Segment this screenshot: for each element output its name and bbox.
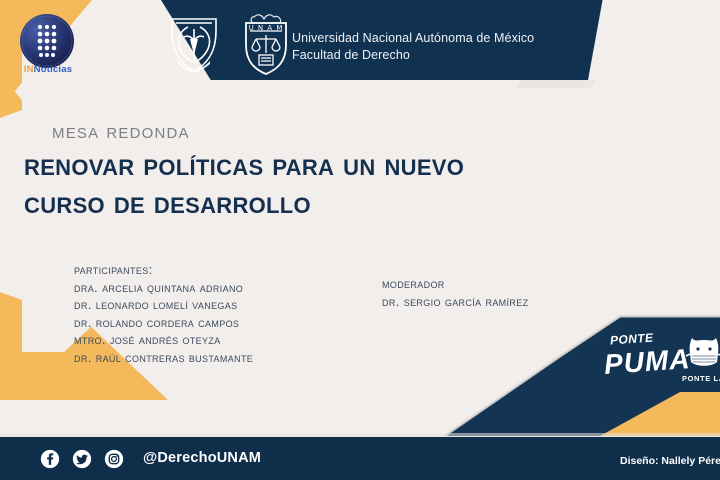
twitter-icon[interactable] — [72, 449, 92, 469]
ponte-puma-sublabel: PONTE LA — [682, 374, 720, 383]
social-handle[interactable]: @DerechoUNAM — [143, 450, 261, 466]
participant-name: Dr. Leonardo Lomelí Vanegas — [74, 296, 253, 314]
design-credit: Diseño: Nallely Pére — [620, 455, 720, 467]
page-title-line-2: curso de desarrollo — [24, 184, 684, 222]
facebook-icon[interactable] — [40, 449, 60, 469]
facultad-derecho-shield-icon: U N A M — [240, 11, 292, 77]
participant-name: Dr. Rolando Cordera Campos — [74, 314, 253, 332]
participants-heading: Participantes: — [74, 261, 253, 279]
instagram-icon[interactable] — [104, 449, 124, 469]
ponte-puma-logo: Ponte PUMA PONTE LA — [604, 328, 720, 390]
institution-shields: U N A M — [162, 8, 292, 80]
in-noticias-logo: INNoticias — [10, 14, 82, 86]
institution-line-2: Facultad de Derecho — [292, 47, 534, 64]
svg-text:U N A M: U N A M — [249, 24, 284, 32]
participants-block: Participantes: Dra. Arcelia Quintana Adr… — [74, 261, 253, 367]
in-noticias-word-a: IN — [24, 64, 34, 75]
background-shapes — [0, 0, 720, 480]
page-title-line-1: Renovar políticas para un nuevo — [24, 147, 464, 182]
globe-dot-grid-icon — [20, 14, 74, 68]
in-noticias-word-b: Noticias — [34, 64, 73, 75]
participant-name: Dra. Arcelia Quintana Adriano — [74, 279, 253, 297]
ponte-puma-line-2: PUMA — [603, 343, 691, 381]
unam-shield-icon — [162, 11, 226, 77]
moderator-block: Moderador Dr. Sergio García Ramírez — [382, 275, 528, 310]
moderator-heading: Moderador — [382, 275, 528, 293]
puma-head-mask-icon — [684, 334, 720, 372]
moderator-name: Dr. Sergio García Ramírez — [382, 293, 528, 311]
page-title: Renovar políticas para un nuevo curso de… — [24, 146, 684, 222]
slide-canvas: INNoticias U N A M — [0, 0, 720, 480]
globe-sphere-icon — [20, 14, 74, 68]
participant-name: Dr. Raúl Contreras Bustamante — [74, 349, 253, 367]
event-kicker: Mesa Redonda — [52, 120, 190, 144]
in-noticias-wordmark: INNoticias — [12, 64, 84, 75]
institution-line-1: Universidad Nacional Autónoma de México — [292, 30, 534, 47]
institution-text: Universidad Nacional Autónoma de México … — [292, 30, 534, 63]
social-links[interactable] — [40, 449, 124, 469]
participant-name: Mtro. José Andrés Oteyza — [74, 331, 253, 349]
